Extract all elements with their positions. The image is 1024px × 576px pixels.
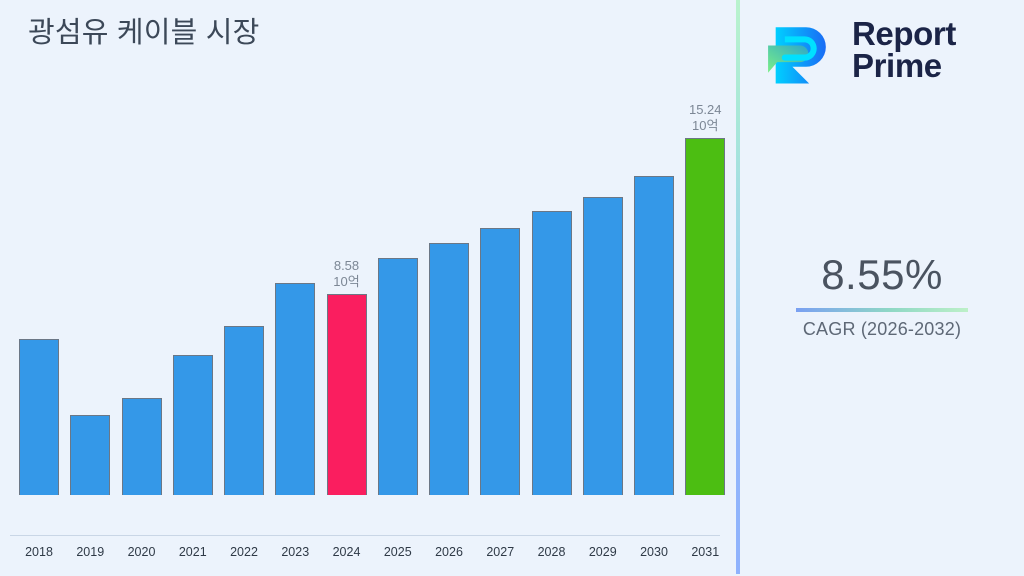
x-tick-2023: 2023 (275, 545, 315, 559)
bar-value-label-line: 15.24 (689, 102, 722, 118)
bar-2030[interactable] (634, 176, 674, 495)
x-tick-2020: 2020 (122, 545, 162, 559)
x-tick-2028: 2028 (532, 545, 572, 559)
bar-value-label-line: 8.58 (333, 258, 359, 274)
cagr-divider-rule (796, 308, 968, 312)
bar-2029[interactable] (583, 197, 623, 495)
x-tick-2024: 2024 (327, 545, 367, 559)
x-tick-2027: 2027 (480, 545, 520, 559)
bar-value-label-line: 10억 (689, 118, 722, 134)
x-tick-2026: 2026 (429, 545, 469, 559)
bar-value-label-2031: 15.2410억 (689, 102, 722, 134)
brand-logo[interactable]: Report Prime (762, 12, 956, 88)
cagr-block: 8.55% CAGR (2026-2032) (740, 250, 1024, 340)
brand-name-line1: Report (852, 18, 956, 50)
bar-2024[interactable]: 8.5810억 (327, 294, 367, 495)
x-tick-2031: 2031 (685, 545, 725, 559)
bar-2027[interactable] (480, 228, 520, 495)
bar-2018[interactable] (19, 339, 59, 495)
x-tick-2018: 2018 (19, 545, 59, 559)
brand-name: Report Prime (852, 18, 956, 82)
brand-name-line2: Prime (852, 50, 956, 82)
bar-2026[interactable] (429, 243, 469, 495)
bar-2022[interactable] (224, 326, 264, 495)
bar-2028[interactable] (532, 211, 572, 495)
report-prime-logo-icon (762, 12, 838, 88)
bar-value-label-2024: 8.5810억 (333, 258, 359, 290)
x-tick-2019: 2019 (70, 545, 110, 559)
bar-chart-plot-area: 8.5810억15.2410억 201820192020202120222023… (0, 0, 737, 536)
chart-panel: 광섬유 케이블 시장 8.5810억15.2410억 2018201920202… (0, 0, 737, 576)
x-tick-2029: 2029 (583, 545, 623, 559)
cagr-value: 8.55% (740, 250, 1024, 300)
bar-value-label-line: 10억 (333, 274, 359, 290)
x-axis-line (10, 535, 720, 536)
bar-2020[interactable] (122, 398, 162, 495)
x-tick-2030: 2030 (634, 545, 674, 559)
x-tick-2021: 2021 (173, 545, 213, 559)
x-tick-2025: 2025 (378, 545, 418, 559)
bar-2019[interactable] (70, 415, 110, 495)
bar-2031[interactable]: 15.2410억 (685, 138, 725, 495)
bar-2023[interactable] (275, 283, 315, 495)
x-tick-2022: 2022 (224, 545, 264, 559)
cagr-caption: CAGR (2026-2032) (740, 319, 1024, 340)
bar-2025[interactable] (378, 258, 418, 495)
bar-2021[interactable] (173, 355, 213, 495)
side-panel: Report Prime 8.55% CAGR (2026-2032) (740, 0, 1024, 576)
